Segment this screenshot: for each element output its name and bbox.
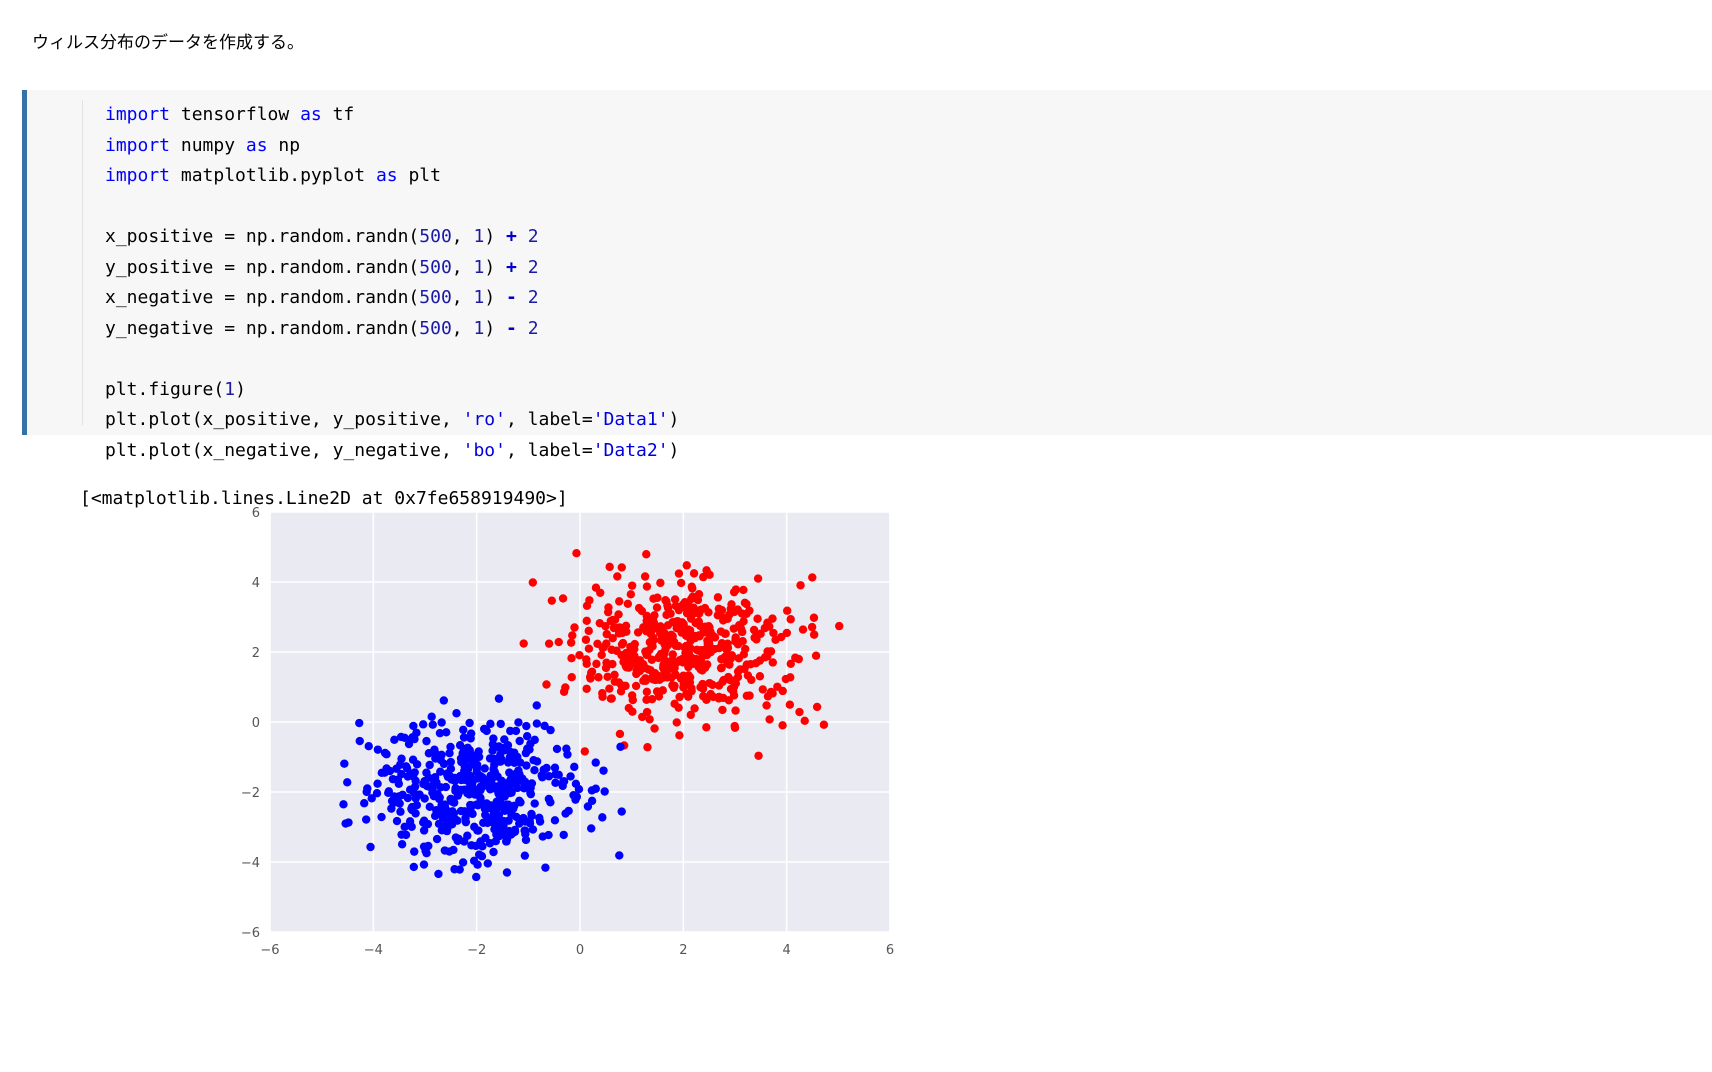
code-token: 500	[419, 257, 452, 278]
scatter-point	[801, 717, 809, 725]
code-token: import	[105, 165, 181, 186]
code-token: -	[506, 318, 528, 339]
scatter-point	[661, 596, 669, 604]
scatter-point	[677, 579, 685, 587]
scatter-point	[517, 774, 525, 782]
scatter-point	[615, 629, 623, 637]
code-line: y_positive = np.random.randn(500, 1) + 2	[105, 253, 679, 284]
scatter-point	[617, 681, 625, 689]
scatter-point	[641, 674, 649, 682]
y-axis-tick-label: 2	[252, 646, 260, 661]
scatter-point	[648, 695, 656, 703]
scatter-point	[673, 718, 681, 726]
scatter-point	[467, 729, 475, 737]
scatter-point	[436, 729, 444, 737]
scatter-point	[560, 777, 568, 785]
scatter-point	[567, 654, 575, 662]
scatter-point	[598, 813, 606, 821]
code-token: ,	[452, 287, 474, 308]
scatter-point	[698, 666, 706, 674]
code-token: import	[105, 104, 181, 125]
scatter-point	[599, 766, 607, 774]
scatter-point	[343, 778, 351, 786]
code-line: x_negative = np.random.randn(500, 1) - 2	[105, 283, 679, 314]
code-token: plt	[408, 165, 441, 186]
code-token: 'bo'	[463, 440, 506, 461]
scatter-point	[444, 821, 452, 829]
scatter-point	[622, 622, 630, 630]
scatter-point	[520, 826, 528, 834]
scatter-point	[642, 617, 650, 625]
scatter-point	[769, 629, 777, 637]
scatter-point	[402, 762, 410, 770]
scatter-point	[684, 692, 692, 700]
code-token: )	[669, 440, 680, 461]
code-token: x_positive = np.random.randn(	[105, 226, 419, 247]
scatter-point	[562, 744, 570, 752]
scatter-point	[632, 682, 640, 690]
scatter-point	[708, 681, 716, 689]
scatter-point	[786, 673, 794, 681]
scatter-point	[736, 665, 744, 673]
scatter-point	[445, 749, 453, 757]
scatter-point	[515, 737, 523, 745]
scatter-point	[339, 800, 347, 808]
scatter-point	[738, 609, 746, 617]
scatter-point	[492, 837, 500, 845]
scatter-point	[419, 720, 427, 728]
scatter-point	[459, 726, 467, 734]
code-token: 2	[528, 226, 539, 247]
scatter-point	[641, 664, 649, 672]
code-line: x_positive = np.random.randn(500, 1) + 2	[105, 222, 679, 253]
scatter-point	[483, 817, 491, 825]
code-token: 500	[419, 318, 452, 339]
scatter-point	[715, 693, 723, 701]
scatter-point	[679, 672, 687, 680]
scatter-point	[643, 582, 651, 590]
scatter-point	[691, 632, 699, 640]
scatter-point	[715, 608, 723, 616]
scatter-point	[627, 590, 635, 598]
scatter-point	[422, 849, 430, 857]
scatter-point	[783, 607, 791, 615]
x-axis-tick-label: 0	[576, 943, 584, 958]
scatter-point	[759, 685, 767, 693]
scatter-point	[487, 783, 495, 791]
code-token: 1	[473, 318, 484, 339]
scatter-point	[395, 792, 403, 800]
x-axis-tick-label: 6	[886, 943, 894, 958]
scatter-point	[581, 747, 589, 755]
y-axis-tick-label: −2	[241, 786, 260, 801]
scatter-point	[521, 851, 529, 859]
matplotlib-figure-output: −6−4−20246−6−4−20246	[230, 498, 930, 968]
code-token: tensorflow	[181, 104, 300, 125]
scatter-point	[608, 616, 616, 624]
scatter-point	[522, 722, 530, 730]
scatter-point	[610, 671, 618, 679]
scatter-point	[718, 706, 726, 714]
scatter-point	[587, 824, 595, 832]
code-token: 500	[419, 226, 452, 247]
scatter-point	[551, 779, 559, 787]
scatter-point	[613, 572, 621, 580]
scatter-point	[643, 743, 651, 751]
scatter-point	[753, 615, 761, 623]
scatter-point	[410, 863, 418, 871]
scatter-point	[675, 731, 683, 739]
scatter-point	[559, 594, 567, 602]
scatter-point	[669, 665, 677, 673]
scatter-point	[397, 755, 405, 763]
scatter-point	[440, 696, 448, 704]
scatter-point	[583, 617, 591, 625]
scatter-point	[512, 727, 520, 735]
code-line: y_negative = np.random.randn(500, 1) - 2	[105, 314, 679, 345]
code-token: )	[484, 257, 506, 278]
scatter-point	[471, 790, 479, 798]
scatter-point	[786, 615, 794, 623]
scatter-point	[436, 793, 444, 801]
scatter-point	[661, 646, 669, 654]
scatter-point	[650, 724, 658, 732]
code-token: , label=	[506, 409, 593, 430]
scatter-point	[476, 837, 484, 845]
scatter-point	[468, 810, 476, 818]
code-token: -	[506, 287, 528, 308]
scatter-point	[410, 788, 418, 796]
scatter-point	[542, 680, 550, 688]
scatter-point	[656, 579, 664, 587]
scatter-point	[529, 578, 537, 586]
scatter-point	[605, 563, 613, 571]
code-line: import tensorflow as tf	[105, 100, 679, 131]
code-token: )	[484, 318, 506, 339]
scatter-point	[598, 693, 606, 701]
scatter-point	[455, 865, 463, 873]
scatter-point	[571, 795, 579, 803]
scatter-point	[592, 660, 600, 668]
scatter-point	[555, 771, 563, 779]
scatter-point	[618, 807, 626, 815]
scatter-point	[452, 709, 460, 717]
scatter-point	[659, 686, 667, 694]
code-token: )	[235, 379, 246, 400]
scatter-point	[390, 736, 398, 744]
scatter-point	[641, 572, 649, 580]
scatter-point	[690, 569, 698, 577]
scatter-point	[424, 842, 432, 850]
scatter-point	[470, 857, 478, 865]
scatter-point	[750, 626, 758, 634]
scatter-point	[743, 660, 751, 668]
scatter-point	[812, 652, 820, 660]
scatter-point	[587, 669, 595, 677]
scatter-point	[731, 706, 739, 714]
code-token: y_positive = np.random.randn(	[105, 257, 419, 278]
scatter-point	[551, 764, 559, 772]
scatter-point	[698, 680, 706, 688]
scatter-point	[674, 642, 682, 650]
scatter-point	[529, 756, 537, 764]
scatter-point	[356, 737, 364, 745]
code-token: 'Data2'	[593, 440, 669, 461]
x-axis-tick-label: 2	[679, 943, 687, 958]
code-token: 1	[473, 257, 484, 278]
scatter-point	[560, 831, 568, 839]
scatter-point	[489, 773, 497, 781]
scatter-point	[567, 638, 575, 646]
scatter-point	[536, 817, 544, 825]
scatter-point	[363, 784, 371, 792]
markdown-paragraph: ウィルス分布のデータを作成する。	[32, 30, 304, 56]
scatter-point	[675, 569, 683, 577]
scatter-point	[466, 746, 474, 754]
scatter-point	[592, 758, 600, 766]
code-token: 1	[473, 287, 484, 308]
scatter-point	[642, 627, 650, 635]
scatter-point	[747, 676, 755, 684]
scatter-point	[643, 708, 651, 716]
scatter-point	[717, 627, 725, 635]
scatter-point	[504, 741, 512, 749]
code-token: ,	[452, 257, 474, 278]
scatter-point	[510, 748, 518, 756]
scatter-point	[683, 561, 691, 569]
scatter-point	[582, 685, 590, 693]
scatter-point	[663, 633, 671, 641]
scatter-point	[593, 640, 601, 648]
code-token: +	[506, 257, 528, 278]
scatter-point	[808, 623, 816, 631]
code-cell-source[interactable]: import tensorflow as tfimport numpy as n…	[82, 100, 679, 425]
code-token: )	[484, 226, 506, 247]
scatter-point	[407, 805, 415, 813]
scatter-point	[602, 659, 610, 667]
scatter-point	[384, 789, 392, 797]
scatter-point	[686, 678, 694, 686]
scatter-point	[481, 802, 489, 810]
code-token: plt.plot(x_positive, y_positive,	[105, 409, 463, 430]
scatter-point	[362, 815, 370, 823]
scatter-point	[634, 628, 642, 636]
scatter-point	[433, 835, 441, 843]
scatter-point	[551, 816, 559, 824]
scatter-point	[687, 614, 695, 622]
scatter-point	[706, 635, 714, 643]
scatter-point	[407, 823, 415, 831]
code-line	[105, 192, 679, 223]
scatter-point	[545, 639, 553, 647]
code-token: matplotlib.pyplot	[181, 165, 376, 186]
scatter-point	[366, 843, 374, 851]
scatter-point	[628, 660, 636, 668]
scatter-point	[596, 619, 604, 627]
code-line: plt.plot(x_negative, y_negative, 'bo', l…	[105, 436, 679, 467]
code-line: import numpy as np	[105, 131, 679, 162]
scatter-point	[645, 715, 653, 723]
scatter-point	[447, 775, 455, 783]
scatter-point	[465, 719, 473, 727]
scatter-point	[684, 625, 692, 633]
scatter-point	[724, 644, 732, 652]
scatter-point	[473, 774, 481, 782]
scatter-point	[572, 780, 580, 788]
scatter-point	[585, 596, 593, 604]
scatter-point	[479, 782, 487, 790]
scatter-point	[765, 715, 773, 723]
scatter-point	[461, 814, 469, 822]
scatter-point	[531, 799, 539, 807]
scatter-point	[594, 673, 602, 681]
scatter-point	[555, 638, 563, 646]
scatter-point	[540, 722, 548, 730]
scatter-point	[732, 585, 740, 593]
scatter-point	[754, 574, 762, 582]
scatter-point	[688, 583, 696, 591]
scatter-point	[489, 848, 497, 856]
scatter-point	[360, 799, 368, 807]
scatter-point	[649, 595, 657, 603]
scatter-point	[373, 789, 381, 797]
scatter-point	[425, 749, 433, 757]
code-token: as	[300, 104, 333, 125]
scatter-point	[568, 673, 576, 681]
code-token: 'ro'	[463, 409, 506, 430]
scatter-point	[499, 817, 507, 825]
scatter-point	[675, 606, 683, 614]
code-token: ,	[452, 226, 474, 247]
scatter-point	[729, 687, 737, 695]
scatter-point	[397, 830, 405, 838]
scatter-point	[570, 763, 578, 771]
scatter-point	[835, 622, 843, 630]
scatter-point	[596, 589, 604, 597]
scatter-point	[413, 760, 421, 768]
scatter-point	[608, 694, 616, 702]
scatter-point	[473, 826, 481, 834]
code-cell[interactable]: import tensorflow as tfimport numpy as n…	[22, 90, 1712, 435]
scatter-point	[702, 723, 710, 731]
scatter-point	[456, 741, 464, 749]
scatter-point	[704, 608, 712, 616]
scatter-point	[616, 730, 624, 738]
scatter-point	[540, 766, 548, 774]
scatter-point	[795, 708, 803, 716]
scatter-point	[754, 752, 762, 760]
scatter-point	[553, 745, 561, 753]
scatter-point	[572, 549, 580, 557]
scatter-point	[752, 659, 760, 667]
code-token: , label=	[506, 440, 593, 461]
code-token: plt.figure(	[105, 379, 224, 400]
scatter-point	[719, 676, 727, 684]
x-axis-tick-label: −6	[260, 943, 279, 958]
scatter-point	[582, 636, 590, 644]
scatter-point	[340, 760, 348, 768]
scatter-point	[629, 696, 637, 704]
scatter-point	[506, 776, 514, 784]
scatter-point	[490, 825, 498, 833]
scatter-point	[739, 586, 747, 594]
scatter-point	[786, 701, 794, 709]
code-token: 500	[419, 287, 452, 308]
scatter-point	[723, 615, 731, 623]
scatter-point	[344, 818, 352, 826]
scatter-point	[810, 614, 818, 622]
scatter-point	[618, 563, 626, 571]
x-axis-tick-label: −2	[467, 943, 486, 958]
scatter-point	[720, 653, 728, 661]
scatter-point	[615, 597, 623, 605]
code-token: 2	[528, 318, 539, 339]
scatter-point	[419, 818, 427, 826]
scatter-point	[605, 684, 613, 692]
scatter-point	[377, 813, 385, 821]
code-line: plt.figure(1)	[105, 375, 679, 406]
scatter-point	[625, 704, 633, 712]
y-axis-tick-label: 0	[252, 716, 260, 731]
code-token: tf	[333, 104, 355, 125]
y-axis-tick-label: −6	[241, 926, 260, 941]
scatter-point	[604, 608, 612, 616]
scatter-point	[408, 770, 416, 778]
scatter-point	[454, 791, 462, 799]
scatter-point	[434, 870, 442, 878]
code-token: 1	[224, 379, 235, 400]
scatter-point	[425, 761, 433, 769]
scatter-point	[624, 600, 632, 608]
code-line: import matplotlib.pyplot as plt	[105, 161, 679, 192]
scatter-point	[355, 719, 363, 727]
scatter-point	[405, 740, 413, 748]
code-token: x_negative = np.random.randn(	[105, 287, 419, 308]
scatter-point	[592, 785, 600, 793]
y-axis-tick-label: 6	[252, 506, 260, 521]
scatter-point	[427, 713, 435, 721]
scatter-point	[365, 742, 373, 750]
scatter-point	[422, 737, 430, 745]
scatter-point	[585, 644, 593, 652]
scatter-point	[533, 701, 541, 709]
scatter-point	[497, 720, 505, 728]
scatter-point	[396, 808, 404, 816]
scatter-point	[575, 651, 583, 659]
scatter-point	[441, 800, 449, 808]
scatter-point	[799, 625, 807, 633]
scatter-point	[514, 718, 522, 726]
scatter-point	[522, 836, 530, 844]
scatter-point	[420, 860, 428, 868]
scatter-point	[449, 846, 457, 854]
scatter-point	[653, 603, 661, 611]
scatter-point	[619, 639, 627, 647]
scatter-point	[570, 623, 578, 631]
scatter-point	[642, 550, 650, 558]
scatter-point	[693, 646, 701, 654]
scatter-point	[643, 688, 651, 696]
scatter-point	[671, 595, 679, 603]
scatter-point	[480, 764, 488, 772]
scatter-point	[507, 788, 515, 796]
scatter-point	[382, 750, 390, 758]
scatter-point	[460, 733, 468, 741]
scatter-point	[568, 631, 576, 639]
scatter-point	[439, 814, 447, 822]
scatter-point	[791, 654, 799, 662]
scatter-point	[560, 688, 568, 696]
